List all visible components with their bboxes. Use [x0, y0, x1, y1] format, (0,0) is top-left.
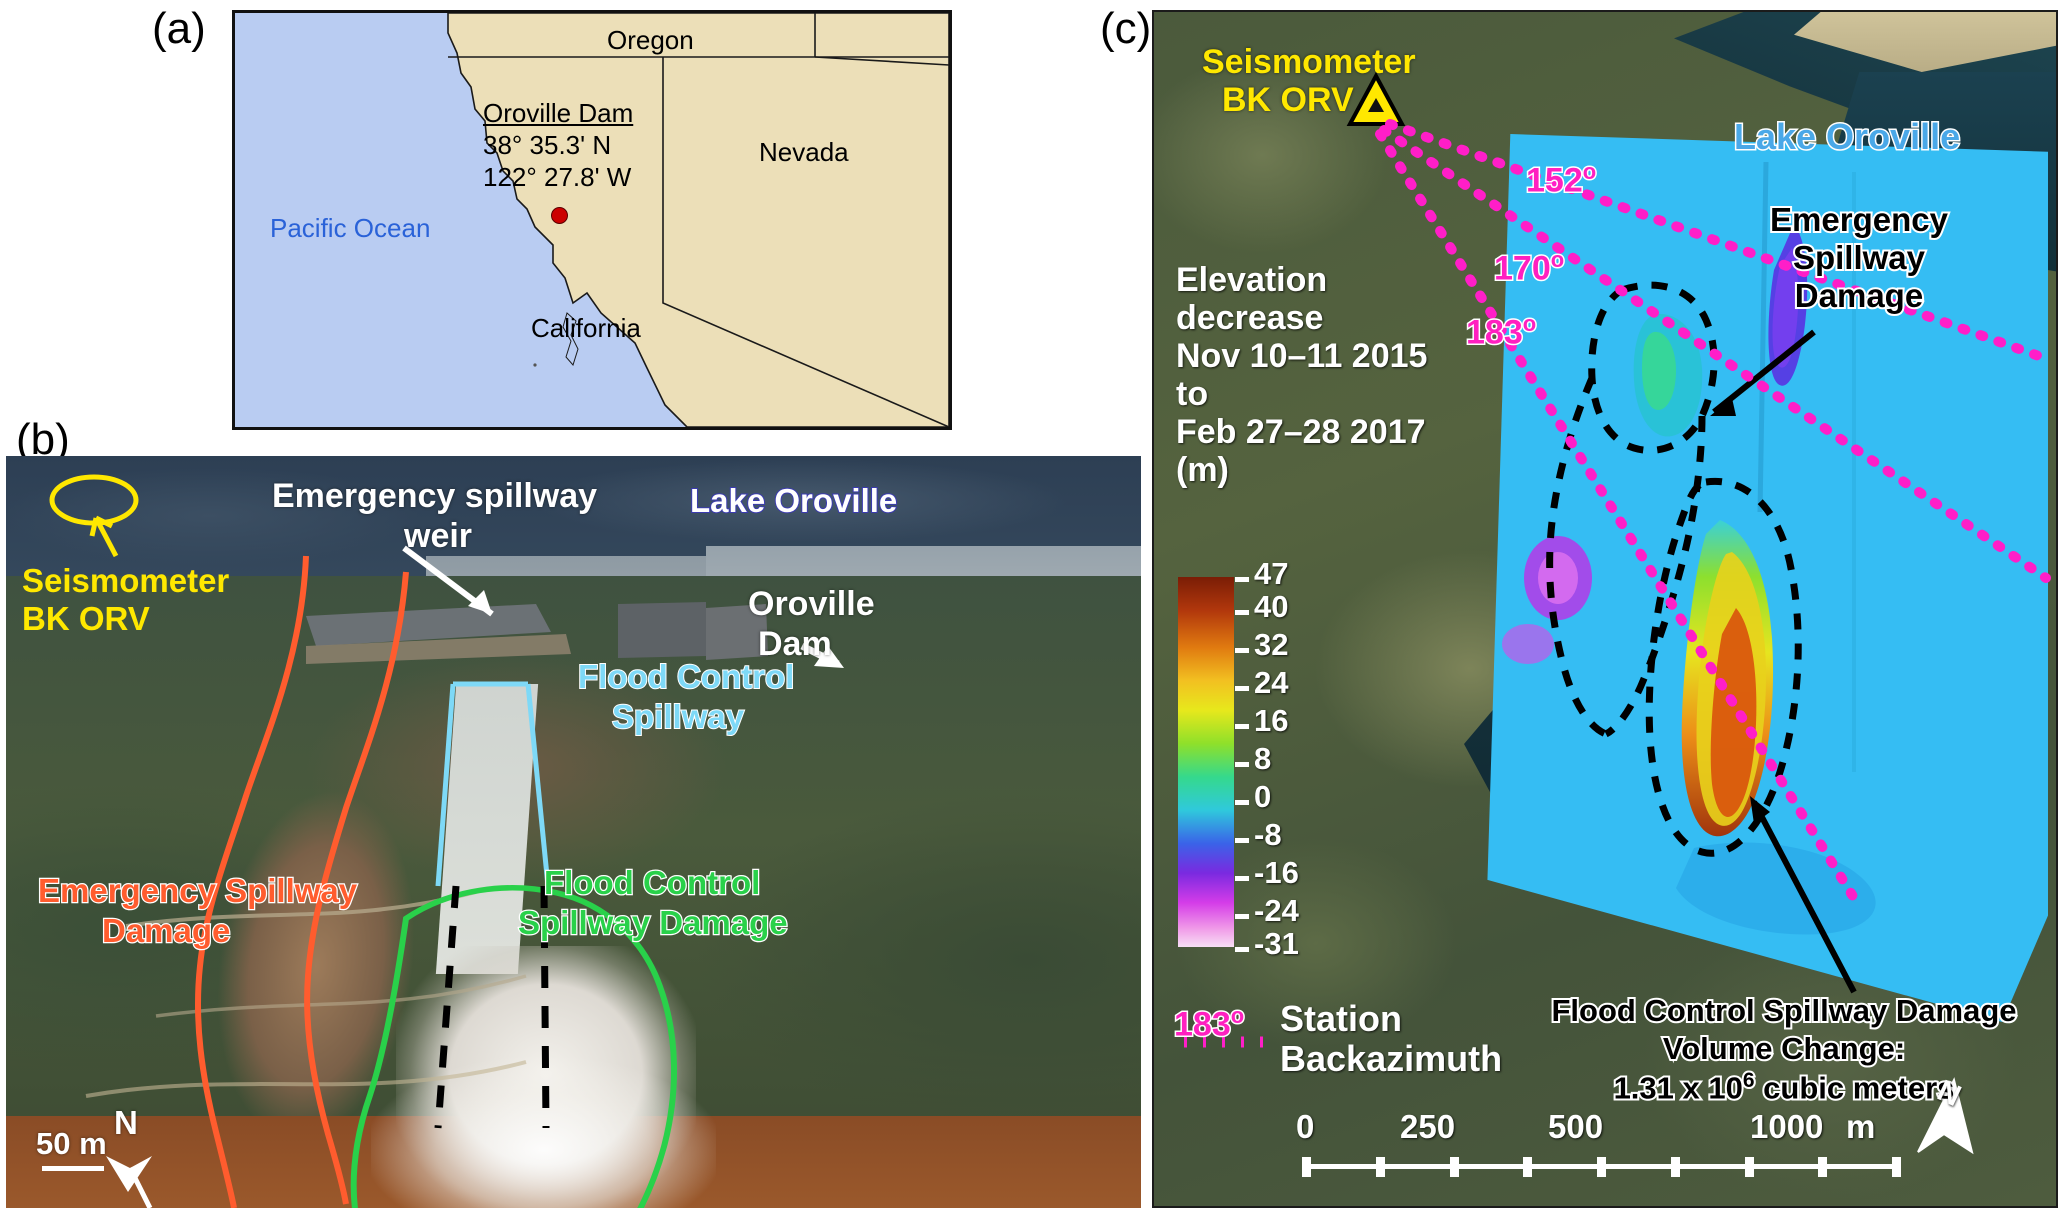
- scalebar-tick: [1671, 1157, 1680, 1177]
- panel-b-scalebar-label: 50 m: [36, 1128, 107, 1161]
- colorbar-title-line2: decrease: [1176, 300, 1323, 337]
- panel-b-seismometer-label-line1: Seismometer: [22, 564, 229, 599]
- oroville-dam-marker-dot: [551, 207, 568, 224]
- panel-c-lake-oroville-label: Lake Oroville: [1734, 118, 1960, 157]
- scalebar-tick: [1892, 1157, 1901, 1177]
- panel-c-flood-damage-line2: Volume Change:: [1514, 1032, 2054, 1065]
- ocean-label-pacific: Pacific Ocean: [270, 213, 430, 244]
- backazimuth-label-152: 152o: [1526, 160, 1596, 199]
- panel-c-emergency-damage-line3: Damage: [1754, 278, 1964, 314]
- colorbar-gradient: [1178, 577, 1234, 947]
- panel-c-seismometer-label-line2: BK ORV: [1222, 82, 1354, 119]
- backazimuth-label-183: 183o: [1466, 312, 1536, 351]
- panel-a-letter: (a): [152, 4, 206, 54]
- exponent-6: 6: [1743, 1069, 1755, 1092]
- backazimuth-line-170: [1384, 130, 2046, 578]
- colorbar-tick-label: 16: [1254, 703, 1288, 739]
- colorbar-tick-label: 8: [1254, 741, 1271, 777]
- panel-b-north-arrow-label: N: [114, 1106, 138, 1141]
- colorbar-tick-label: 32: [1254, 627, 1288, 663]
- colorbar-tick-label: -16: [1254, 855, 1299, 891]
- colorbar-tick-mark: [1235, 686, 1249, 691]
- colorbar-tick-label: -31: [1254, 926, 1299, 962]
- panel-b-flood-spillway-label-line2: Spillway: [612, 700, 744, 735]
- scalebar-label-0: 0: [1296, 1108, 1314, 1146]
- panel-b-seismometer-label-line2: BK ORV: [22, 602, 150, 637]
- site-latitude: 38° 35.3' N: [483, 130, 611, 161]
- panel-c-emergency-damage-line1: Emergency: [1754, 202, 1964, 238]
- scalebar-label-1000: 1000: [1750, 1108, 1823, 1146]
- scalebar-tick: [1450, 1157, 1459, 1177]
- colorbar-tick-label: -24: [1254, 893, 1299, 929]
- scalebar-tick: [1818, 1157, 1827, 1177]
- state-label-california: California: [531, 313, 641, 344]
- colorbar-title-line1: Elevation: [1176, 262, 1327, 299]
- panel-c-letter: (c): [1100, 4, 1151, 54]
- colorbar-tick-mark: [1235, 577, 1249, 582]
- panel-b-oroville-dam-label-line2: Dam: [758, 626, 832, 662]
- chute-edge-dashed-left: [438, 886, 456, 1128]
- panel-b-lake-oroville-label: Lake Oroville: [690, 484, 897, 519]
- colorbar-tick-label: -8: [1254, 817, 1282, 853]
- colorbar-title-line6: (m): [1176, 452, 1229, 489]
- panel-b-flood-damage-label-line2: Spillway Damage: [518, 906, 788, 941]
- backazimuth-legend-line2: Backazimuth: [1280, 1040, 1502, 1079]
- panel-c-flood-damage-line1: Flood Control Spillway Damage: [1514, 994, 2054, 1027]
- colorbar-tick-label: 24: [1254, 665, 1288, 701]
- colorbar-tick-mark: [1235, 610, 1249, 615]
- panel-b-emergency-weir-label-line2: weir: [404, 518, 472, 554]
- colorbar-tick-mark: [1235, 762, 1249, 767]
- panel-c-seismometer-label-line1: Seismometer: [1202, 44, 1416, 81]
- degree-sign-170: o: [1551, 247, 1564, 272]
- degree-sign-183: o: [1523, 311, 1536, 336]
- colorbar-tick-label: 40: [1254, 589, 1288, 625]
- scalebar-label-500: 500: [1548, 1108, 1603, 1146]
- panel-b-flood-spillway-label-line1: Flood Control: [578, 660, 794, 695]
- colorbar-tick-mark: [1235, 800, 1249, 805]
- panel-b-aerial-photo: Seismometer BK ORV Emergency spillway we…: [6, 456, 1141, 1208]
- colorbar-tick-label: 0: [1254, 779, 1271, 815]
- colorbar-tick-mark: [1235, 914, 1249, 919]
- degree-sign-legend: o: [1231, 1003, 1244, 1028]
- panel-b-emergency-damage-label-line1: Emergency Spillway: [38, 874, 357, 909]
- colorbar-title-line4: to: [1176, 376, 1208, 413]
- site-title-oroville-dam: Oroville Dam: [483, 98, 633, 129]
- degree-sign-152: o: [1583, 159, 1596, 184]
- state-label-nevada: Nevada: [759, 137, 849, 168]
- scalebar-tick: [1376, 1157, 1385, 1177]
- panel-b-flood-damage-label-line1: Flood Control: [544, 866, 760, 901]
- scalebar-tick: [1302, 1157, 1311, 1177]
- colorbar-tick-mark: [1235, 876, 1249, 881]
- backazimuth-legend-line1: Station: [1280, 1000, 1402, 1039]
- panel-c-emergency-damage-line2: Spillway: [1754, 240, 1964, 276]
- seismometer-circle-marker: [52, 477, 136, 523]
- panel-b-emergency-damage-label-line2: Damage: [102, 914, 230, 949]
- scalebar-tick: [1523, 1157, 1532, 1177]
- colorbar-tick-mark: [1235, 838, 1249, 843]
- backazimuth-legend-value: 183o: [1174, 1004, 1244, 1043]
- colorbar-tick-mark: [1235, 724, 1249, 729]
- colorbar-title-line5: Feb 27–28 2017: [1176, 414, 1426, 451]
- panel-b-oroville-dam-label-line1: Oroville: [748, 586, 875, 622]
- chute-outline-left: [438, 684, 453, 886]
- colorbar-title-line3: Nov 10–11 2015: [1176, 338, 1427, 375]
- state-label-oregon: Oregon: [607, 25, 694, 56]
- panel-a-location-map: Oregon Nevada California Pacific Ocean O…: [232, 10, 952, 430]
- scalebar-label-250: 250: [1400, 1108, 1455, 1146]
- colorbar-tick-label: 47: [1254, 556, 1288, 592]
- colorbar-tick-mark: [1235, 648, 1249, 653]
- panel-c-flood-damage-line3: 1.31 x 106 cubic meters: [1514, 1070, 2054, 1105]
- scalebar-tick: [1597, 1157, 1606, 1177]
- backazimuth-label-170: 170o: [1494, 248, 1564, 287]
- panel-b-emergency-weir-label-line1: Emergency spillway: [272, 478, 597, 514]
- site-longitude: 122° 27.8' W: [483, 162, 631, 193]
- chute-outline-right: [528, 684, 548, 886]
- figure-root: (a) Oregon Nevada California Pacific Oce…: [0, 0, 2066, 1214]
- scalebar-unit-label: m: [1846, 1108, 1875, 1146]
- scalebar-tick: [1745, 1157, 1754, 1177]
- panel-c-scalebar: [1302, 1155, 1892, 1177]
- colorbar-tick-mark: [1235, 947, 1249, 952]
